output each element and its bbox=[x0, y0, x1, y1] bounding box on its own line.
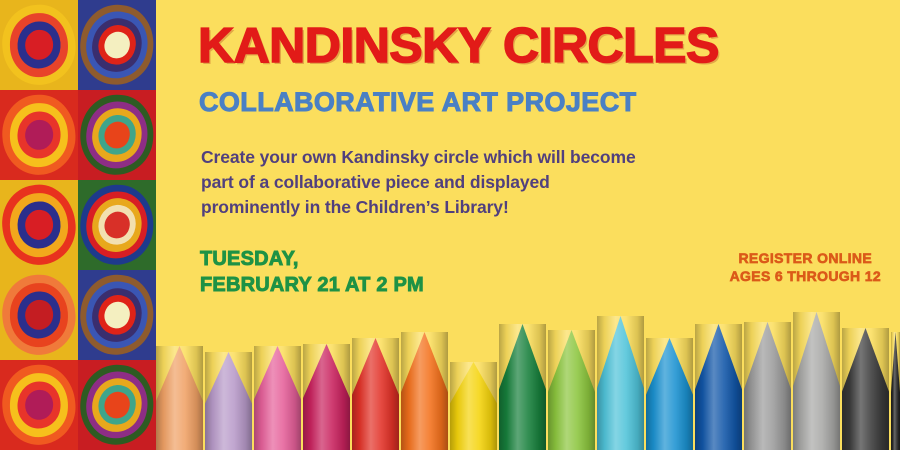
crayon-green bbox=[499, 324, 546, 450]
crayon-silver bbox=[793, 312, 840, 450]
event-day: TUESDAY, bbox=[200, 247, 424, 273]
crayon-lavender bbox=[205, 352, 252, 450]
crayon-tip bbox=[695, 324, 742, 400]
crayon-tip bbox=[156, 346, 203, 410]
kandinsky-cell bbox=[0, 0, 78, 90]
concentric-circle-icon bbox=[78, 180, 156, 270]
crayon-barrel bbox=[793, 396, 840, 450]
crayon-barrel bbox=[303, 405, 350, 450]
kandinsky-cell bbox=[0, 180, 78, 270]
crayon-tip bbox=[744, 322, 791, 400]
crayon-yellow bbox=[450, 362, 497, 450]
crayon-blue bbox=[695, 324, 742, 450]
crayon-barrel bbox=[401, 400, 448, 450]
description-line-3: prominently in the Children’s Library! bbox=[201, 195, 761, 220]
age-range-text: AGES 6 THROUGH 12 bbox=[730, 267, 881, 285]
poster-canvas: KANDINSKY CIRCLES COLLABORATIVE ART PROJ… bbox=[0, 0, 900, 450]
concentric-circle-icon bbox=[78, 360, 156, 450]
crayon-pink bbox=[254, 346, 301, 450]
kandinsky-cell bbox=[78, 180, 156, 270]
crayon-barrel bbox=[156, 408, 203, 450]
concentric-circle-icon bbox=[0, 360, 78, 450]
kandinsky-cell bbox=[78, 360, 156, 450]
crayon-barrel bbox=[891, 400, 900, 450]
concentric-circle-icon bbox=[78, 270, 156, 360]
kandinsky-artwork-panel bbox=[0, 0, 156, 450]
crayon-barrel bbox=[352, 402, 399, 450]
crayon-tip bbox=[597, 316, 644, 400]
concentric-circle-icon bbox=[0, 0, 78, 90]
crayon-barrel bbox=[842, 400, 889, 450]
crayon-barrel bbox=[597, 398, 644, 450]
concentric-circle-icon bbox=[0, 180, 78, 270]
crayon-magenta bbox=[303, 344, 350, 450]
kandinsky-cell bbox=[78, 90, 156, 180]
event-datetime: TUESDAY, FEBRUARY 21 AT 2 PM bbox=[200, 247, 424, 298]
crayon-barrel bbox=[548, 400, 595, 450]
crayon-barrel bbox=[744, 398, 791, 450]
crayon-barrel bbox=[450, 408, 497, 450]
crayon-tip bbox=[254, 346, 301, 408]
concentric-circle-icon bbox=[0, 270, 78, 360]
kandinsky-cell bbox=[78, 270, 156, 360]
registration-info: REGISTER ONLINE AGES 6 THROUGH 12 bbox=[730, 249, 881, 285]
concentric-circle-icon bbox=[78, 0, 156, 90]
crayon-cyan bbox=[597, 316, 644, 450]
crayon-tip bbox=[205, 352, 252, 412]
crayon-tip bbox=[548, 330, 595, 402]
crayon-gray bbox=[744, 322, 791, 450]
crayon-tip bbox=[646, 338, 693, 404]
crayon-tip bbox=[793, 312, 840, 398]
crayon-red bbox=[352, 338, 399, 450]
crayon-barrel bbox=[254, 406, 301, 450]
description-line-2: part of a collaborative piece and displa… bbox=[201, 170, 761, 195]
crayon-tip bbox=[499, 324, 546, 400]
crayon-black bbox=[891, 332, 900, 450]
crayon-barrel bbox=[205, 410, 252, 450]
crayon-tip bbox=[842, 328, 889, 402]
crayon-sky-blue bbox=[646, 338, 693, 450]
page-subtitle: COLLABORATIVE ART PROJECT bbox=[199, 89, 637, 116]
description-line-1: Create your own Kandinsky circle which w… bbox=[201, 145, 761, 170]
kandinsky-cell bbox=[0, 270, 78, 360]
crayon-tip bbox=[352, 338, 399, 404]
crayon-charcoal bbox=[842, 328, 889, 450]
crayon-barrel bbox=[499, 398, 546, 450]
kandinsky-cell bbox=[78, 0, 156, 90]
crayon-tip bbox=[891, 332, 900, 402]
concentric-circle-icon bbox=[78, 90, 156, 180]
crayon-tip bbox=[450, 362, 497, 410]
kandinsky-cell bbox=[0, 360, 78, 450]
crayon-peach bbox=[156, 346, 203, 450]
crayon-lime bbox=[548, 330, 595, 450]
crayon-barrel bbox=[695, 398, 742, 450]
crayon-row-illustration bbox=[156, 310, 900, 450]
crayon-barrel bbox=[646, 402, 693, 450]
event-date-time: FEBRUARY 21 AT 2 PM bbox=[200, 273, 424, 299]
crayon-tip bbox=[401, 332, 448, 402]
page-title: KANDINSKY CIRCLES bbox=[198, 22, 719, 71]
crayon-orange bbox=[401, 332, 448, 450]
concentric-circle-icon bbox=[0, 90, 78, 180]
description-text: Create your own Kandinsky circle which w… bbox=[201, 145, 761, 220]
crayon-tip bbox=[303, 344, 350, 407]
kandinsky-cell bbox=[0, 90, 78, 180]
register-online-text: REGISTER ONLINE bbox=[730, 249, 881, 267]
